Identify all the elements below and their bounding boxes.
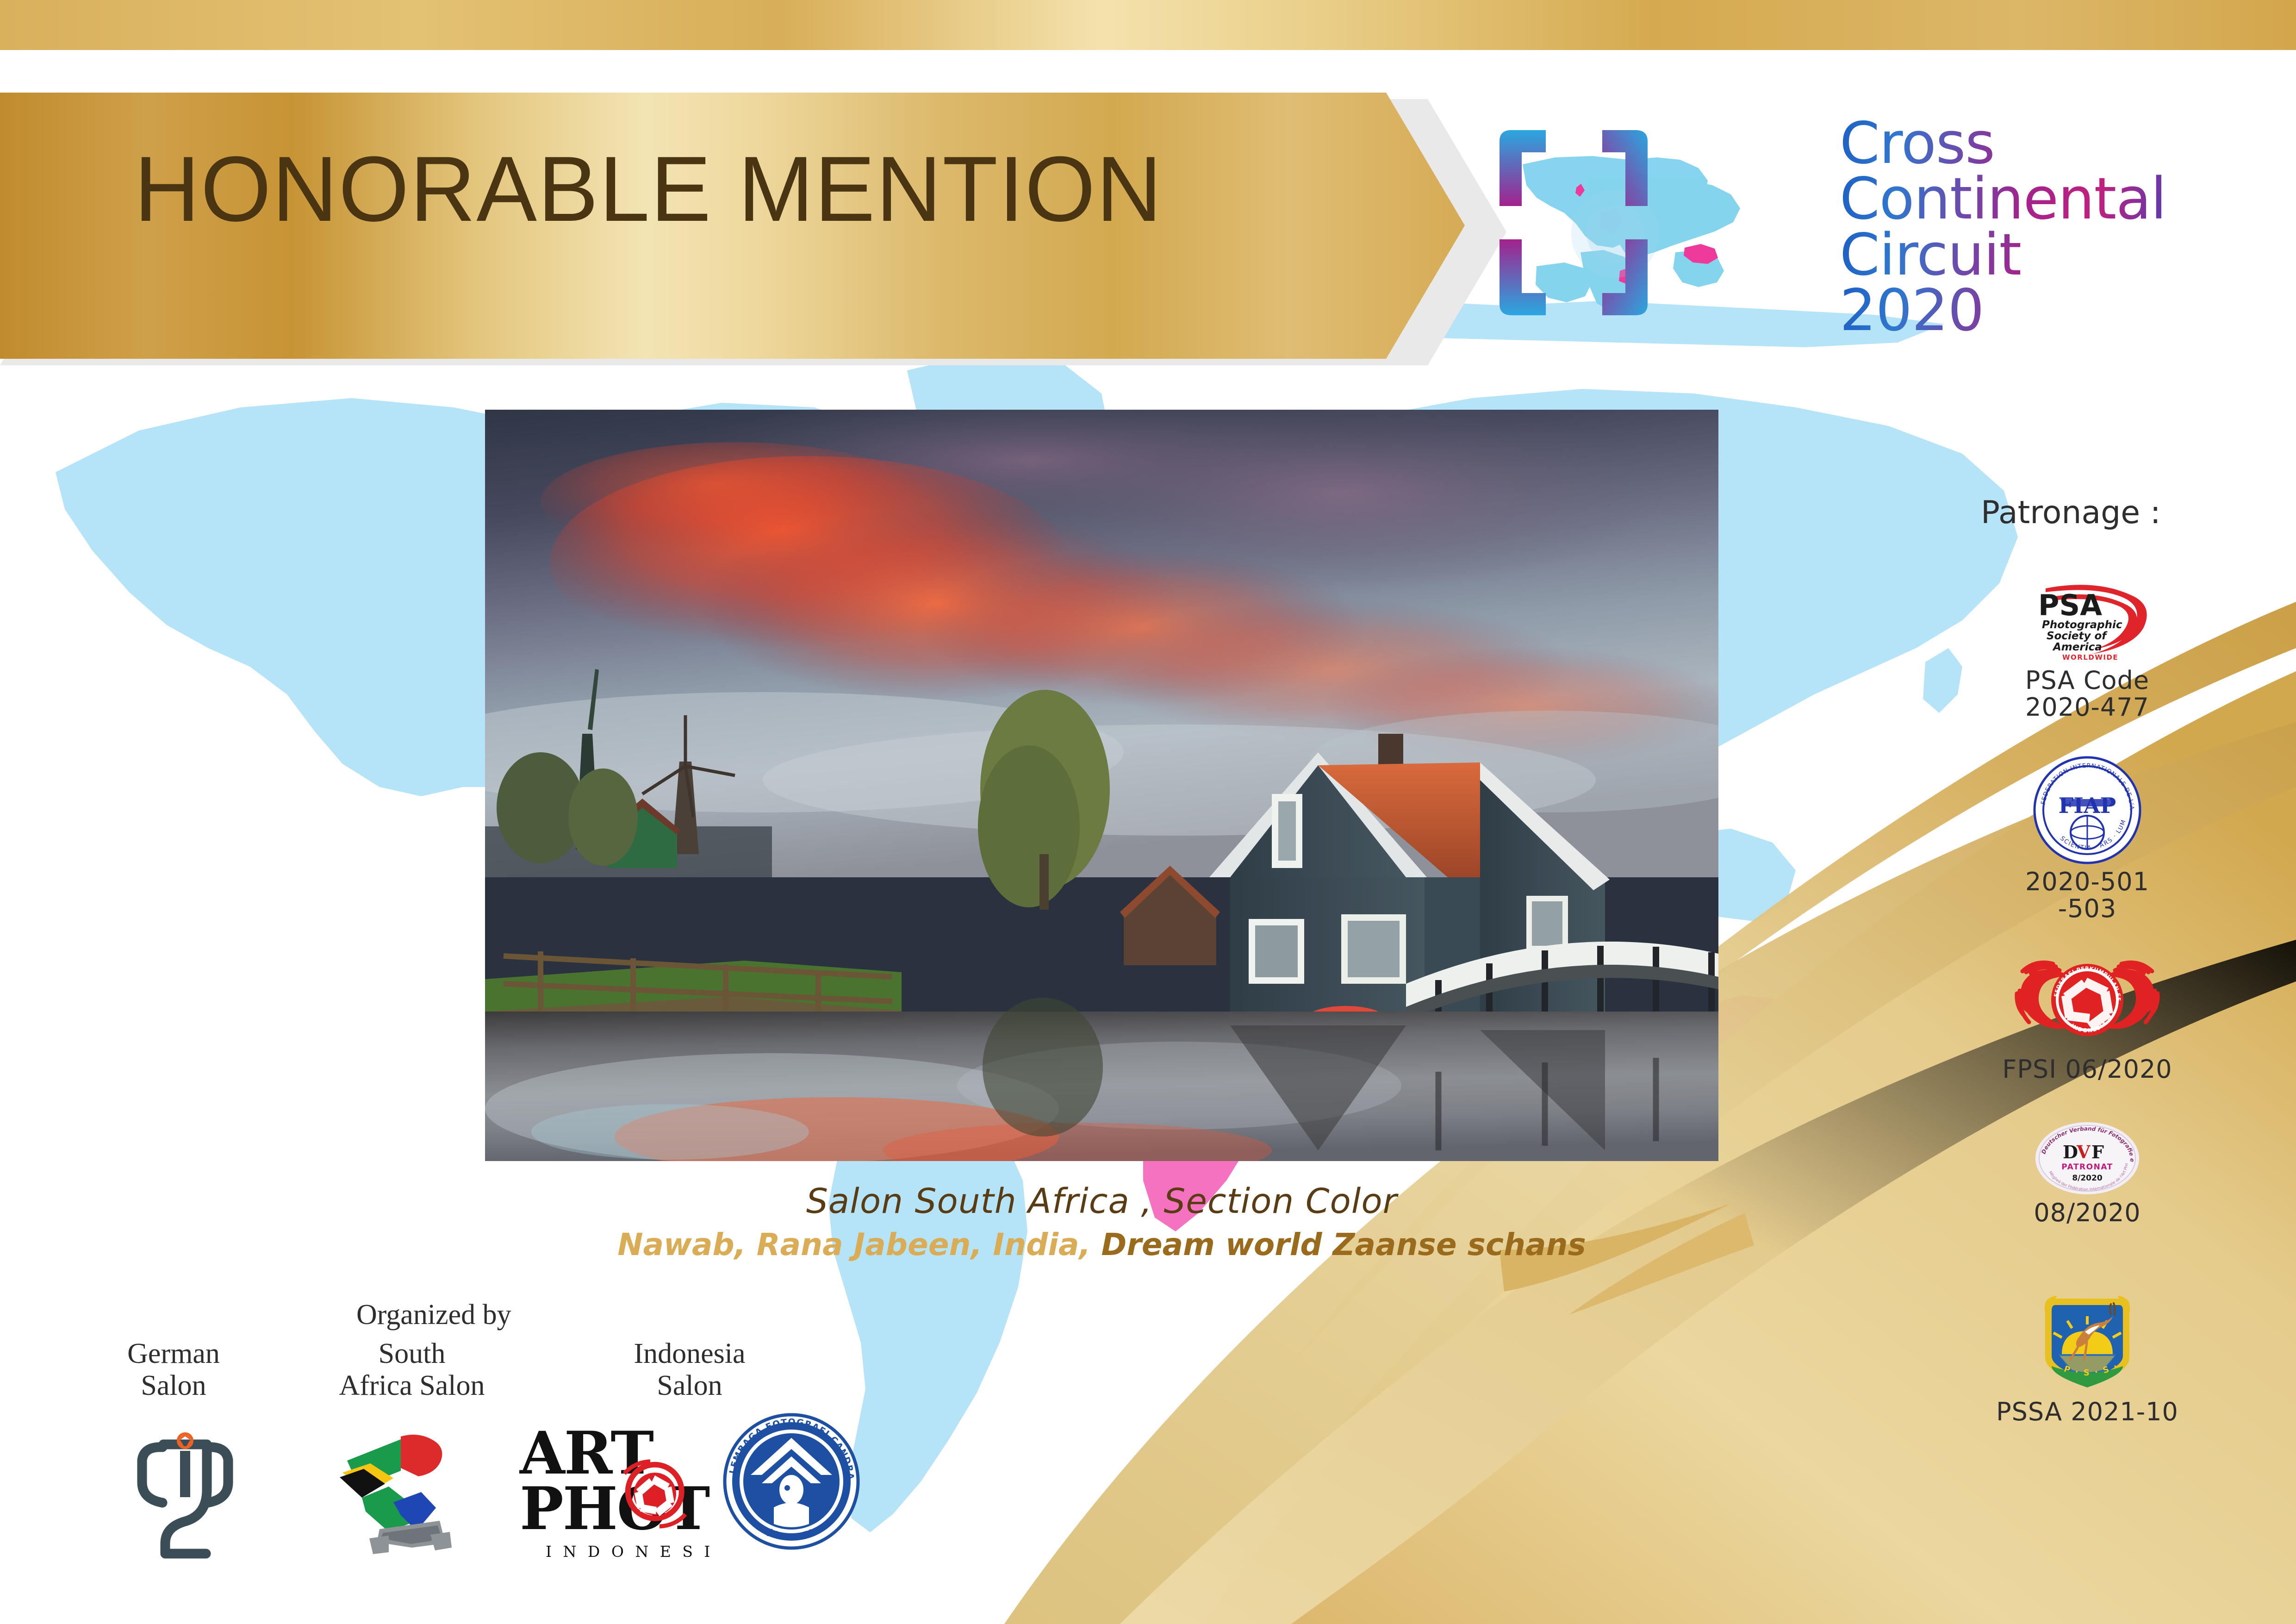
svg-text:PSA: PSA <box>2038 588 2102 622</box>
pssa-logo: P · S · S · A <box>2029 1280 2145 1396</box>
south-africa-salon-logo <box>319 1428 472 1569</box>
german-salon-line2: Salon <box>104 1370 243 1402</box>
svg-text:D: D <box>2063 1142 2078 1162</box>
art-photo-indonesia-logo: ART PHOT I N D O N E S I A <box>516 1419 710 1569</box>
svg-text:PATRONAT: PATRONAT <box>2061 1162 2113 1172</box>
cross-continental-circuit-logo <box>1481 113 1851 331</box>
fiap-logo: FEDERATION INTERNATIONALE DE L'ART PHOTO… <box>2032 755 2143 866</box>
pssa-code-label: PSSA 2021-10 <box>1981 1399 2194 1425</box>
svg-text:America: America <box>2052 641 2102 653</box>
south-africa-salon-line2: Africa Salon <box>315 1370 509 1402</box>
patronage-item-psa: PSA Photographic Society of America WORL… <box>1981 576 2194 721</box>
svg-text:Society of: Society of <box>2047 630 2108 642</box>
fiap-code-line1: 2020-501 <box>1981 868 2194 895</box>
svg-text:I N D O N E S I A: I N D O N E S I A <box>546 1543 710 1561</box>
organizer-column-indonesia: Indonesia Salon <box>597 1338 782 1402</box>
svg-text:FIAP: FIAP <box>2059 793 2116 818</box>
german-salon-line1: German <box>104 1338 243 1370</box>
patronage-heading: Patronage : <box>1981 494 2161 531</box>
fpsi-code-label: FPSI 06/2020 <box>1981 1056 2194 1083</box>
salon-section-caption: Salon South Africa , Section Color <box>485 1181 1718 1221</box>
svg-text:F: F <box>2091 1142 2104 1162</box>
organized-by-heading: Organized by <box>356 1299 511 1331</box>
work-title: Dream world Zaanse schans <box>1101 1227 1586 1262</box>
circuit-logo-text: Cross Continental Circuit 2020 <box>1840 116 2166 338</box>
svg-text:WORLDWIDE: WORLDWIDE <box>2062 653 2118 662</box>
patronage-item-pssa: P · S · S · A PSSA 2021-10 <box>1981 1280 2194 1425</box>
south-africa-salon-line1: South <box>315 1338 509 1370</box>
psa-code-line1: PSA Code <box>1981 667 2194 694</box>
circuit-line-1: Cross <box>1840 116 2166 171</box>
circuit-line-3: Circuit <box>1840 227 2166 283</box>
dvf-code-label: 08/2020 <box>1981 1199 2194 1226</box>
fiap-code-label: 2020-501 -503 <box>1981 868 2194 923</box>
award-photograph <box>485 410 1718 1161</box>
fpsi-logo: FEDERASI PERKUMPULAN SENI FOTO · INDONES… <box>2013 954 2161 1053</box>
svg-text:V: V <box>2076 1142 2091 1162</box>
author-name: Nawab, Rana Jabeen, India, <box>617 1227 1090 1262</box>
psa-logo: PSA Photographic Society of America WORL… <box>2018 576 2157 664</box>
page-title: HONORABLE MENTION <box>134 136 1163 243</box>
lembaga-fotografi-candra-naya-logo: LEMBAGA FOTOGRAFI CANDRA NAYA · JAKARTA … <box>722 1412 861 1553</box>
circuit-line-2: Continental <box>1840 171 2166 227</box>
svg-text:Photographic: Photographic <box>2042 619 2122 631</box>
indonesia-salon-line1: Indonesia <box>597 1338 782 1370</box>
circuit-line-4: 2020 <box>1840 283 2166 338</box>
award-certificate: HONORABLE MENTION <box>0 0 2296 1624</box>
dvf-logo: Deutscher Verband für Fotografie e.V. Mi… <box>2034 1120 2140 1197</box>
patronage-item-fpsi: FEDERASI PERKUMPULAN SENI FOTO · INDONES… <box>1981 954 2194 1083</box>
indonesia-salon-line2: Salon <box>597 1370 782 1402</box>
patronage-item-fiap: FEDERATION INTERNATIONALE DE L'ART PHOTO… <box>1981 755 2194 923</box>
german-salon-trophy-logo <box>123 1430 248 1572</box>
psa-code-label: PSA Code 2020-477 <box>1981 667 2194 721</box>
top-gold-bar <box>0 0 2296 50</box>
svg-text:8/2020: 8/2020 <box>2072 1174 2103 1183</box>
fiap-code-line2: -503 <box>1981 895 2194 922</box>
author-title-caption: Nawab, Rana Jabeen, India, Dream world Z… <box>485 1227 1718 1262</box>
patronage-item-dvf: Deutscher Verband für Fotografie e.V. Mi… <box>1981 1120 2194 1226</box>
organizer-column-german: German Salon <box>104 1338 243 1402</box>
psa-code-line2: 2020-477 <box>1981 694 2194 721</box>
organizer-column-south-africa: South Africa Salon <box>315 1338 509 1402</box>
